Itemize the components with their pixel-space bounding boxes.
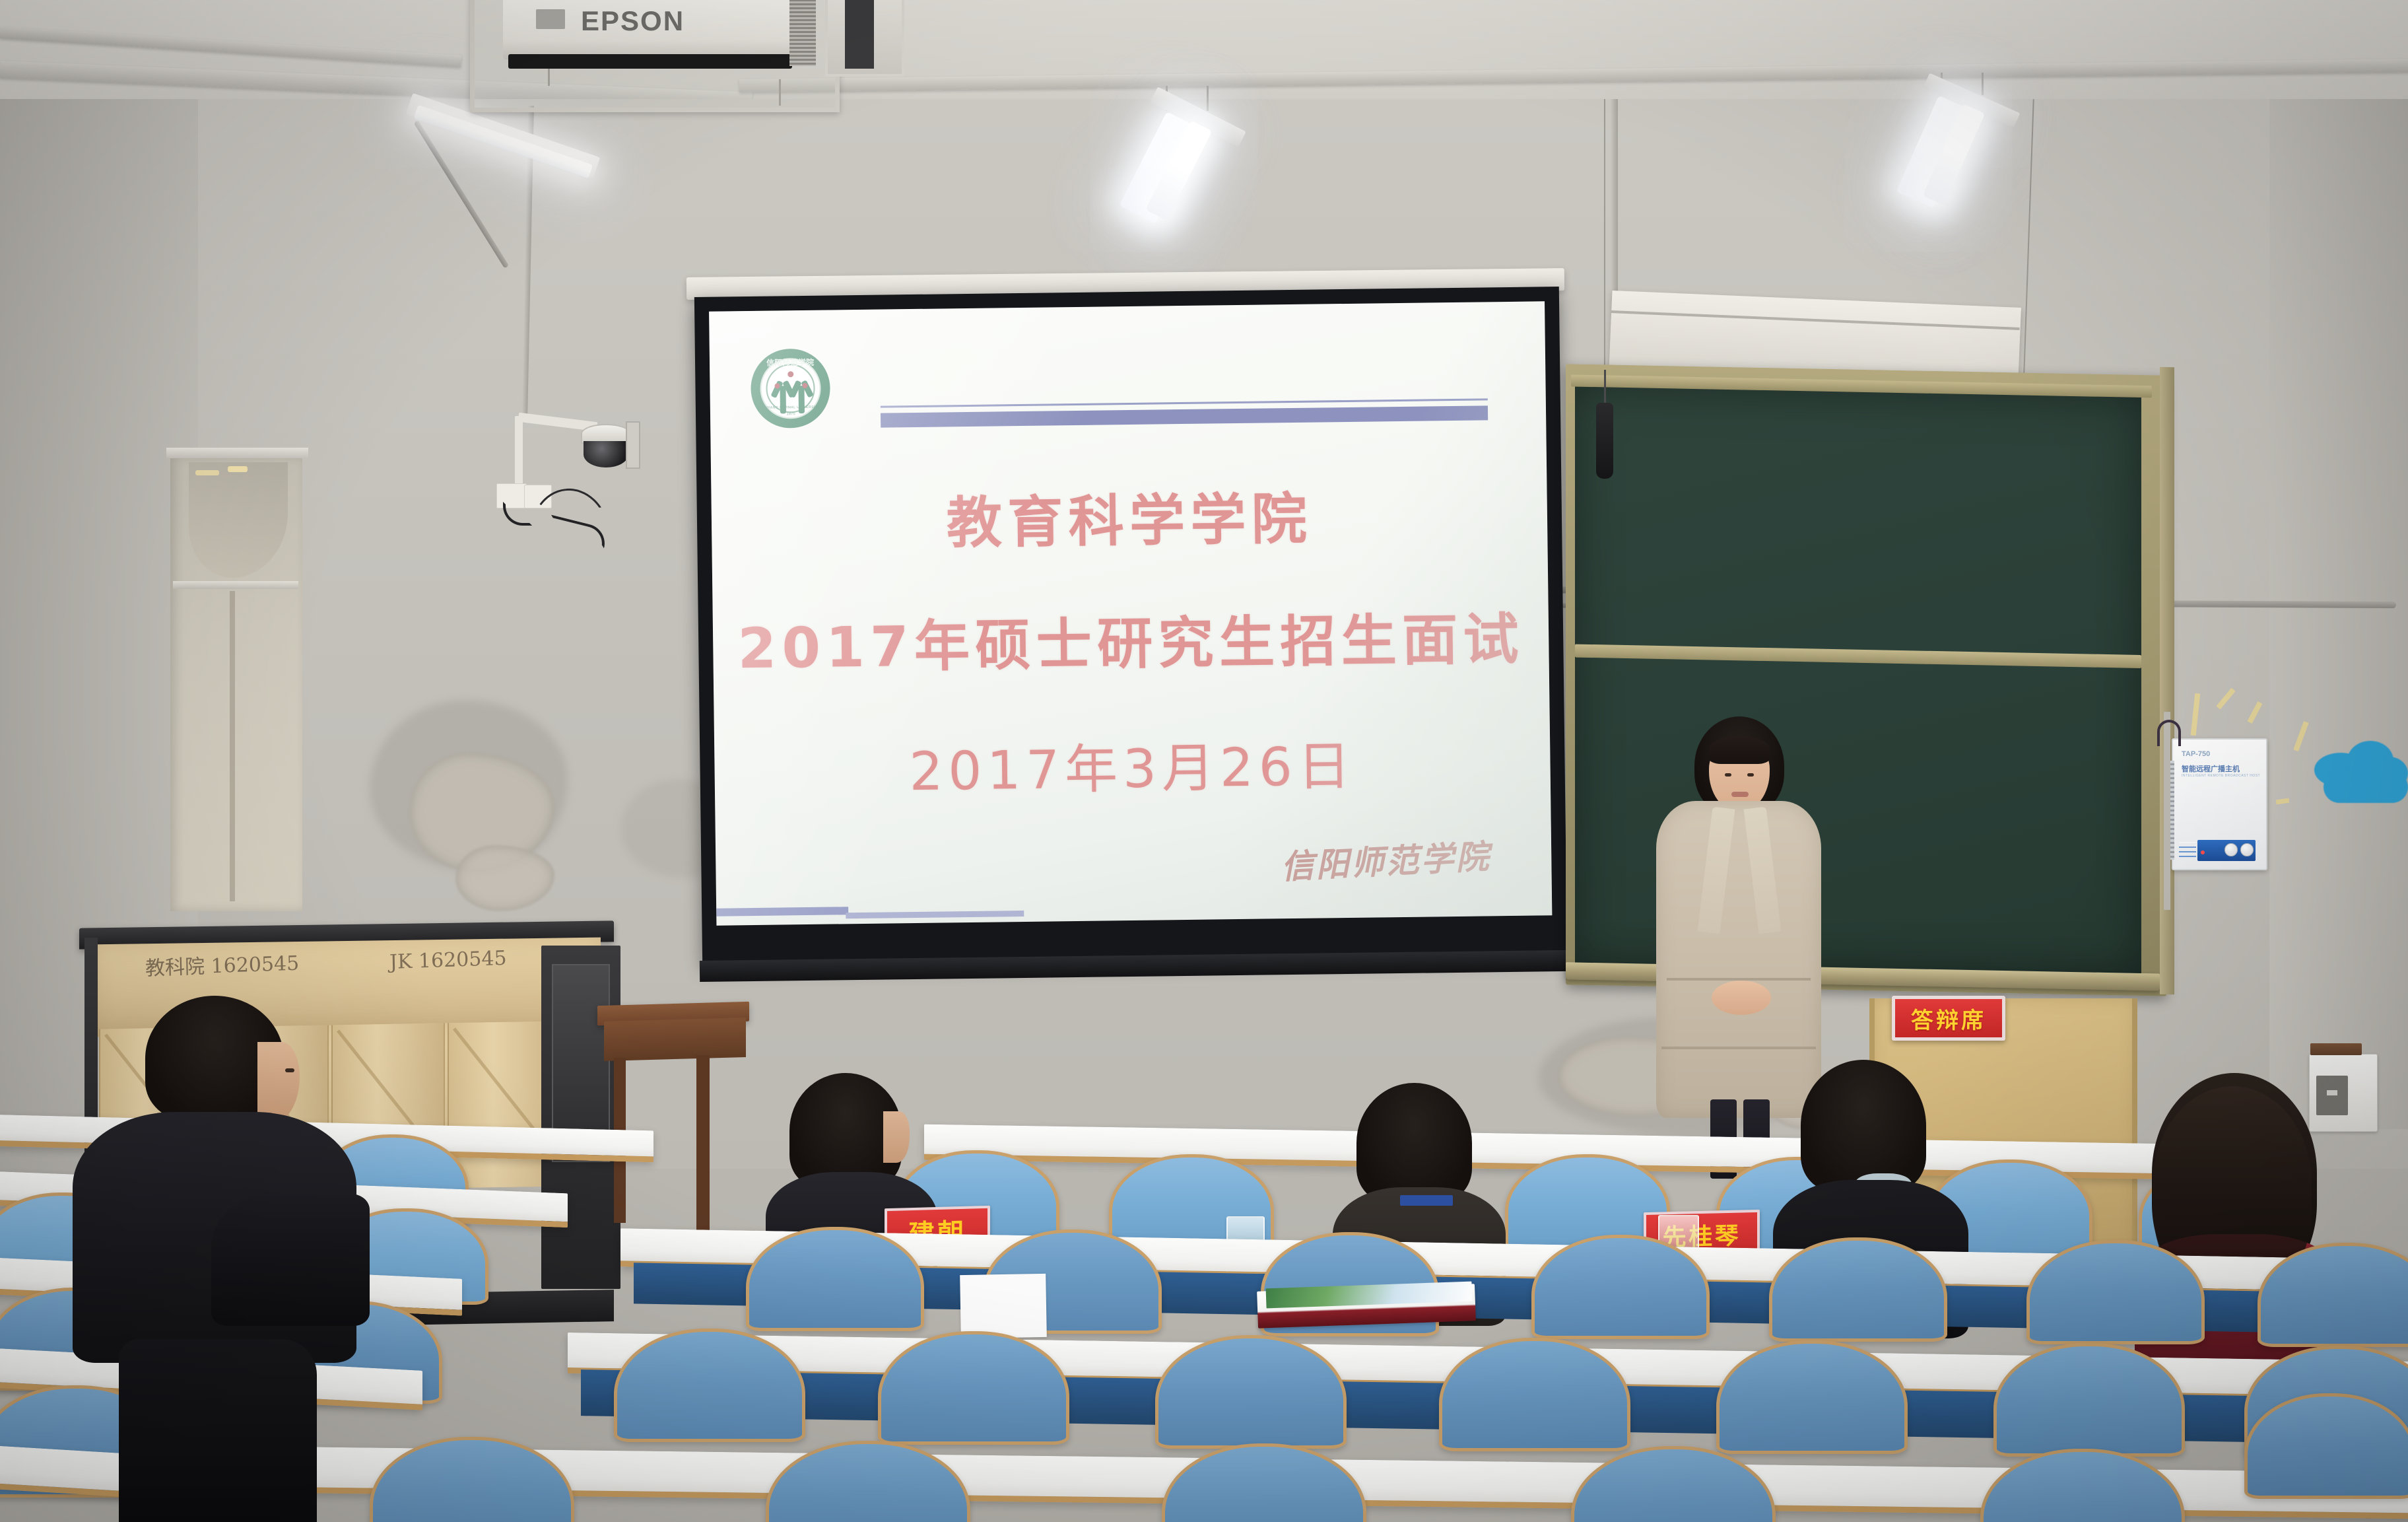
amplifier-knob[interactable] xyxy=(2224,843,2238,856)
amplifier-title-en: INTELLIGENT REMOTE BROADCAST HOST xyxy=(2182,774,2260,778)
projector-mount-slot xyxy=(845,0,874,69)
door-edge xyxy=(2132,998,2137,1263)
wall-shelf-edge xyxy=(2310,1043,2362,1055)
side-table-apron xyxy=(604,1018,746,1061)
slide-line-3: 2017年3月26日 xyxy=(714,721,1551,808)
slide-line-1: 教育科学学院 xyxy=(711,471,1547,561)
presenter-eye xyxy=(1725,773,1731,777)
doorway-light-glint xyxy=(195,470,219,475)
slide-footer-bar-secondary xyxy=(846,911,1024,918)
side-table-leg xyxy=(696,1055,710,1247)
door-seam xyxy=(230,591,235,901)
attendee-eye xyxy=(285,1068,294,1072)
amplifier-model-label: TAP-750 xyxy=(2182,750,2210,758)
presenter-fringe xyxy=(1709,736,1770,764)
logo-accent-dot xyxy=(774,383,780,388)
projector-lens-shadow xyxy=(508,54,792,69)
dome-camera-lens xyxy=(584,441,628,467)
projector-vent xyxy=(789,0,816,66)
amplifier-title-cn: 智能远程广播主机 xyxy=(2182,763,2240,774)
projector-logo-square xyxy=(536,9,565,29)
ceiling-light-fixture xyxy=(1129,86,1287,231)
presenter-coat-seam xyxy=(1661,1047,1816,1049)
projector-brand-label: EPSON xyxy=(581,5,685,37)
presenter-mouth xyxy=(1731,792,1749,797)
presenter-hands xyxy=(1712,981,1771,1015)
podium-writing-left: 教科院 1620545 xyxy=(145,947,300,981)
doorway-lintel xyxy=(166,448,308,458)
attendee-cheek xyxy=(883,1111,910,1163)
slide-line-2: 2017年硕士研究生招生面试 xyxy=(713,594,1549,684)
logo-arc-text-cn: 信阳师范学院 xyxy=(760,357,820,368)
attendee-arm xyxy=(211,1194,370,1326)
attendee-profile-face xyxy=(257,1042,300,1121)
logo-accent-dot xyxy=(802,383,807,388)
slide-signature: 信阳师范学院 xyxy=(1280,830,1492,888)
attendee-lower-body xyxy=(119,1339,317,1522)
doorway-light-glint xyxy=(228,466,248,472)
camera-arm-vertical xyxy=(515,416,523,485)
logo-year: 1975 xyxy=(760,412,821,417)
paper-sheet xyxy=(960,1274,1047,1338)
podium-writing-right: JK 1620545 xyxy=(389,947,507,974)
hanging-microphone xyxy=(1596,403,1613,479)
attendee-hair xyxy=(1356,1083,1472,1203)
projection-screen: 信阳师范学院 XINYANG NORMAL UNIVERSITY 1975 教育… xyxy=(709,301,1552,925)
logo-accent-dot xyxy=(787,371,793,377)
slide-footer-bar xyxy=(716,907,848,916)
ceiling-light-fixture xyxy=(1901,73,2059,218)
amplifier-power-led xyxy=(2201,850,2205,854)
slide-header-rule xyxy=(881,405,1488,427)
defense-seat-sign: 答辩席 xyxy=(1892,996,2005,1041)
camera-mount-bracket xyxy=(626,421,640,469)
presenter-eye xyxy=(1747,773,1754,777)
broadcast-amplifier: TAP-750 智能远程广播主机 INTELLIGENT REMOTE BROA… xyxy=(2172,738,2267,870)
attendee-hair xyxy=(1801,1060,1926,1192)
university-logo: 信阳师范学院 XINYANG NORMAL UNIVERSITY 1975 xyxy=(751,349,830,429)
right-wall xyxy=(2269,99,2408,1129)
amplifier-knob[interactable] xyxy=(2240,843,2254,856)
defense-seat-sign-text: 答辩席 xyxy=(1911,1002,1986,1035)
seated-attendee-left-front xyxy=(92,996,370,1517)
cloud-decal xyxy=(2324,771,2408,803)
logo-arc-text-en: XINYANG NORMAL UNIVERSITY xyxy=(760,405,821,410)
amplifier-cable xyxy=(2157,720,2181,746)
doorway-transom-bar xyxy=(173,581,298,589)
attendee-lanyard xyxy=(1400,1195,1453,1206)
screen-frame: 信阳师范学院 XINYANG NORMAL UNIVERSITY 1975 教育… xyxy=(694,287,1567,964)
classroom-photo: EPSON 信阳师范学院 xyxy=(0,0,2408,1522)
